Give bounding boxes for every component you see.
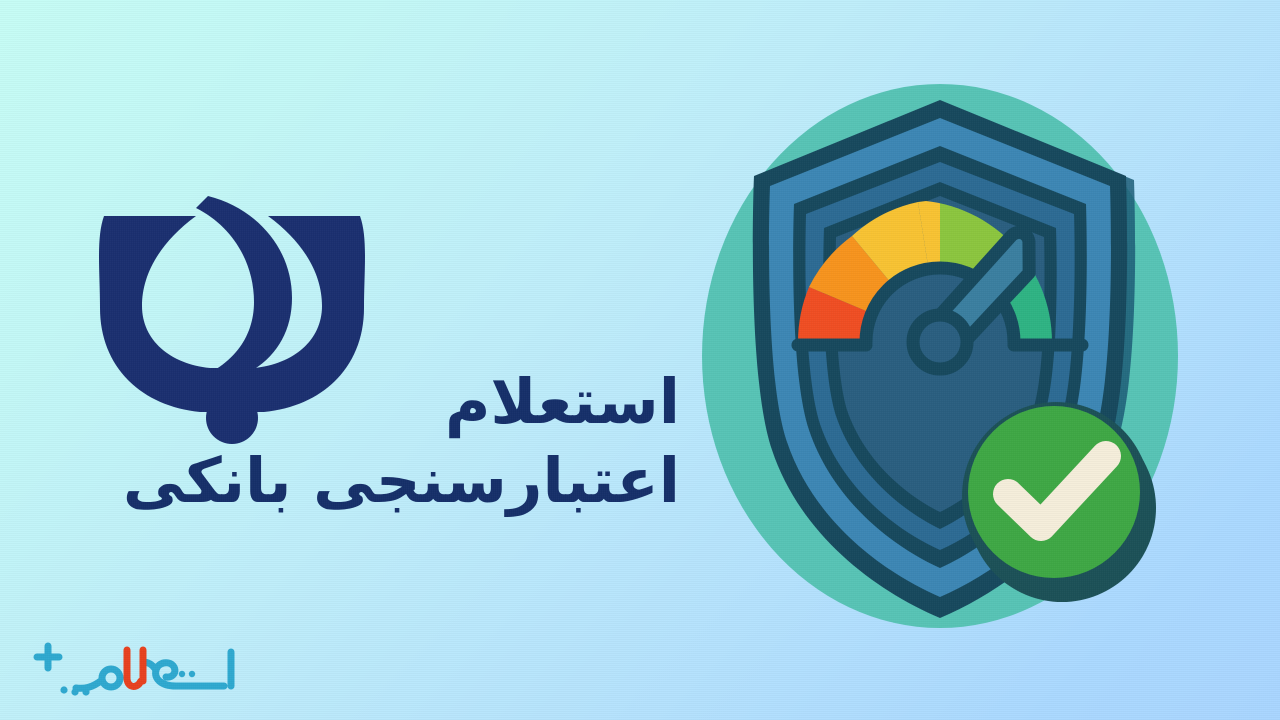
page-title-line-1: استعلام	[80, 362, 680, 441]
credit-score-shield-illustration	[656, 42, 1224, 670]
watermark-dots-top	[179, 671, 195, 677]
poster-canvas: استعلام اعتبارسنجی بانکی	[0, 0, 1280, 720]
lam-alef-accent	[127, 650, 143, 686]
estelam-watermark[interactable]	[26, 636, 244, 702]
gauge-needle-hub	[913, 315, 967, 369]
plus-icon	[37, 646, 59, 668]
page-title: استعلام اعتبارسنجی بانکی	[80, 362, 680, 521]
page-title-line-2: اعتبارسنجی بانکی	[80, 441, 680, 520]
